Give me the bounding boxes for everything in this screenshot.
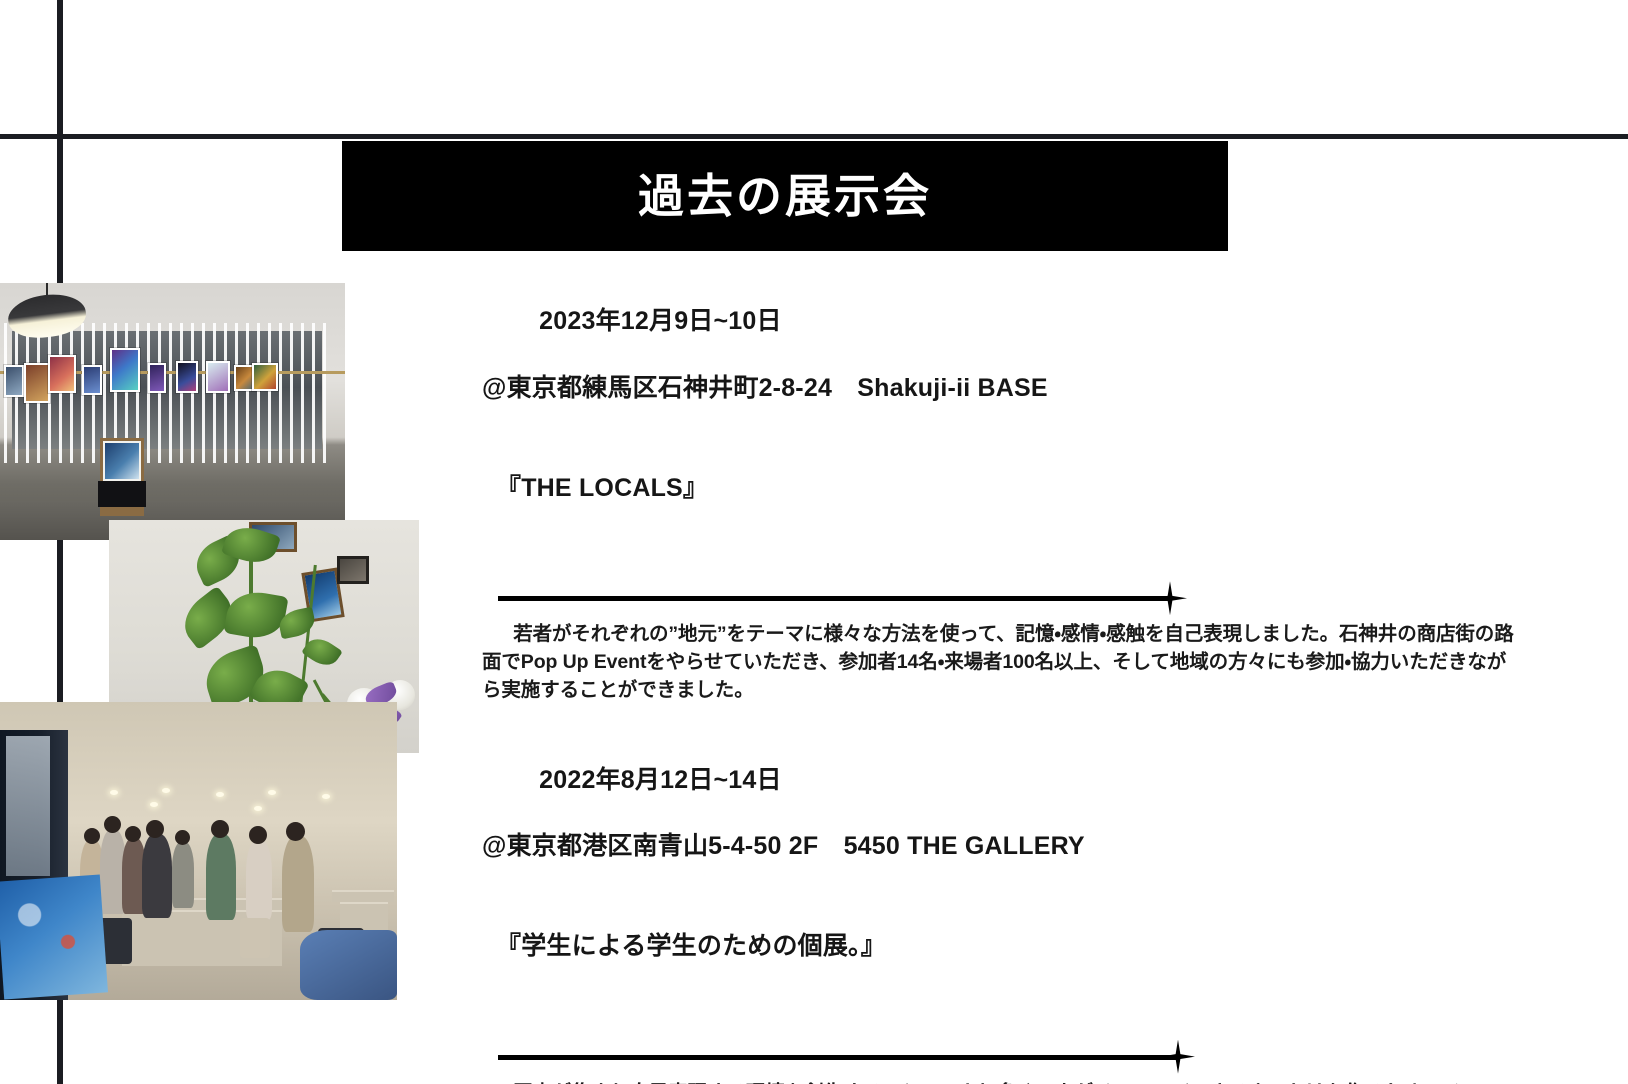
artwork-frame	[24, 363, 50, 403]
visitor	[206, 834, 236, 920]
chair-artwork	[103, 441, 141, 481]
visitor-head	[146, 820, 164, 838]
display-table	[332, 890, 394, 902]
ceiling-light	[254, 806, 262, 811]
event-description: 若者がそれぞれの”地元”をテーマに様々な方法を使って、記憶・感情・感触を自己表現…	[482, 621, 1518, 704]
event-block: 2022年8月12日~14日 @東京都港区南青山5-4-50 2F 5450 T…	[482, 730, 1542, 1084]
entrance-window	[6, 736, 50, 876]
artwork-frame	[148, 363, 166, 393]
artwork-frame	[110, 348, 140, 392]
artwork-frame	[4, 365, 24, 397]
visitor-head	[104, 816, 121, 833]
chair-seat-display	[98, 481, 146, 507]
spacer	[482, 704, 1542, 730]
event-venue: @東京都港区南青山5-4-50 2F 5450 THE GALLERY	[482, 830, 1542, 863]
foreground-jacket	[300, 930, 397, 1000]
visitor-head	[286, 822, 305, 841]
event-venue: @東京都練馬区石神井町2-8-24 Shakuji-ii BASE	[482, 372, 1542, 405]
title-band: 過去の展示会	[342, 141, 1228, 251]
sparkle-icon	[1153, 581, 1187, 615]
ceiling-light	[150, 802, 158, 807]
gallery-white-railing	[4, 323, 334, 463]
visitor-head	[175, 830, 190, 845]
artwork-frame	[176, 361, 198, 393]
artwork-frame	[82, 365, 102, 395]
ceiling-light	[322, 794, 330, 799]
visitor-head	[249, 826, 267, 844]
chair	[240, 918, 270, 958]
ceiling-light	[110, 790, 118, 795]
events-list: 2023年12月9日~10日 @東京都練馬区石神井町2-8-24 Shakuji…	[482, 272, 1542, 1084]
sparkle-icon	[1161, 1040, 1195, 1074]
sparkle-divider-2	[498, 1040, 1542, 1074]
page-title: 過去の展示会	[638, 173, 932, 219]
ceiling-light	[268, 790, 276, 795]
horizontal-rule	[0, 134, 1628, 139]
sparkle-divider-1	[498, 581, 1542, 615]
visitor	[282, 836, 314, 932]
visitor-head	[211, 820, 229, 838]
visitor	[142, 834, 172, 918]
event-date: 2022年8月12日~14日	[539, 766, 782, 794]
event-room-photo	[0, 702, 397, 1000]
visitor	[246, 840, 272, 920]
visitor-head	[84, 828, 100, 844]
wall-frame-dark	[337, 556, 369, 584]
event-block: 2023年12月9日~10日 @東京都練馬区石神井町2-8-24 Shakuji…	[482, 272, 1542, 730]
featured-artwork-panel	[0, 875, 108, 1000]
visitor-head	[125, 826, 141, 842]
event-date: 2023年12月9日~10日	[539, 307, 782, 335]
event-title: 『THE LOCALS』	[482, 472, 1542, 505]
divider-bar	[498, 596, 1170, 601]
gallery-wall-photo	[0, 283, 345, 540]
artwork-frame	[252, 363, 278, 391]
divider-bar	[498, 1055, 1178, 1060]
artwork-frame	[48, 355, 76, 393]
event-title: 『学生による学生のための個展。』	[482, 930, 1542, 963]
artwork-frame	[206, 361, 230, 393]
ceiling-light	[162, 788, 170, 793]
visitor	[172, 842, 194, 908]
slide-root: 過去の展示会	[0, 0, 1628, 1084]
event-description: 同志が集まり自己表現する環境を創生することで、より多くの人がチャレンジできるきっ…	[482, 1080, 1518, 1084]
event-heading: 2022年8月12日~14日 @東京都港区南青山5-4-50 2F 5450 T…	[482, 730, 1542, 1029]
event-heading: 2023年12月9日~10日 @東京都練馬区石神井町2-8-24 Shakuji…	[482, 272, 1542, 571]
ceiling-light	[216, 792, 224, 797]
